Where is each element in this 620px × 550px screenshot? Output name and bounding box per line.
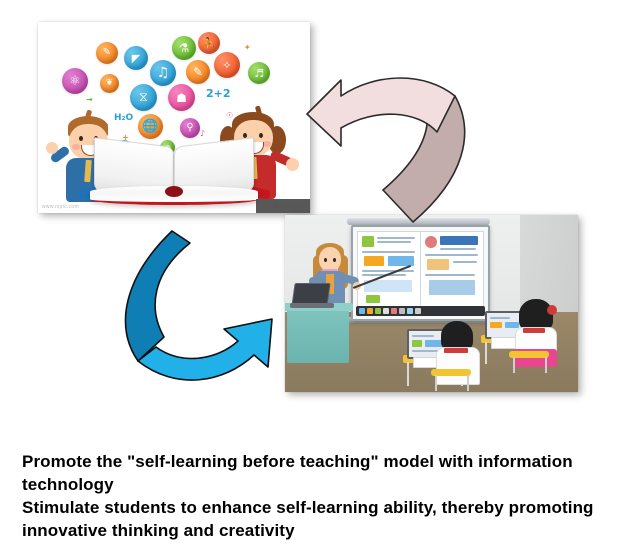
taskbar-icon bbox=[415, 308, 421, 314]
watermark-block bbox=[256, 199, 310, 213]
student-girl-collar bbox=[523, 328, 545, 333]
boy-cheek-left bbox=[72, 144, 80, 150]
microscope-icon: ⚲ bbox=[180, 118, 200, 138]
slide-graphic bbox=[362, 236, 374, 247]
slide-graphic bbox=[366, 295, 380, 303]
slide-page-right bbox=[420, 231, 484, 307]
girl-hand bbox=[286, 158, 299, 171]
taskbar-icon bbox=[399, 308, 405, 314]
arrow-classroom-to-kids bbox=[305, 70, 490, 235]
boy-hand bbox=[46, 142, 58, 154]
student-chair-leg bbox=[467, 375, 469, 391]
student-boy-collar bbox=[444, 348, 468, 353]
student-desk-leg bbox=[407, 362, 409, 386]
teacher-laptop-base bbox=[290, 303, 334, 308]
girl-cheek-right bbox=[263, 141, 271, 147]
dna-icon: ⧖ bbox=[130, 84, 157, 111]
taskbar-icon bbox=[375, 308, 381, 314]
pencil-note-icon: ✎ bbox=[186, 60, 210, 84]
kids-illustration-canvas: ✎ ⚛ ◤ ❦ ♫ ⚗ ⛹ ✎ ✧ ♬ ⧖ ☗ 🌐 ⚲ ☀ ◉ 2+2 H₂O … bbox=[38, 22, 310, 213]
classroom-scene bbox=[285, 215, 578, 392]
flask-icon: ⚗ bbox=[172, 36, 196, 60]
slide-text-line bbox=[362, 270, 414, 272]
arrow-tail-body bbox=[125, 231, 190, 361]
student-desk-leg bbox=[485, 342, 487, 364]
telescope-icon: ✧ bbox=[214, 52, 240, 78]
teacher-eye-left bbox=[324, 258, 327, 262]
caption-block: Promote the "self-learning before teachi… bbox=[22, 450, 602, 542]
caption-paragraph-2: Stimulate students to enhance self-learn… bbox=[22, 496, 602, 542]
teacher-desk bbox=[287, 307, 349, 363]
book-spine bbox=[165, 186, 183, 197]
atom-icon: ⚛ bbox=[62, 68, 88, 94]
slide-text-line bbox=[377, 237, 415, 239]
star-symbol: ✦ bbox=[244, 44, 251, 52]
taskbar-icon bbox=[407, 308, 413, 314]
taskbar-icon bbox=[391, 308, 397, 314]
kids-illustration-image[interactable]: ✎ ⚛ ◤ ❦ ♫ ⚗ ⛹ ✎ ✧ ♬ ⧖ ☗ 🌐 ⚲ ☀ ◉ 2+2 H₂O … bbox=[38, 22, 310, 213]
taskbar-icon bbox=[383, 308, 389, 314]
palette-icon: ✎ bbox=[96, 42, 118, 64]
student-girl-hair-clip bbox=[547, 305, 557, 315]
projection-screen bbox=[351, 225, 490, 321]
slide-graphic bbox=[364, 256, 384, 266]
slide-graphic bbox=[425, 236, 437, 248]
girl-hair-tuft bbox=[255, 105, 262, 115]
monitor-text-line bbox=[490, 317, 510, 319]
drafting-icon: ◤ bbox=[124, 46, 148, 70]
student-chair-leg bbox=[545, 357, 547, 373]
globe-icon: 🌐 bbox=[138, 114, 163, 139]
slide-text-line bbox=[453, 261, 477, 263]
watermark-left: www.nipic.com bbox=[42, 204, 79, 210]
bird-icon: ❦ bbox=[100, 74, 119, 93]
open-book bbox=[94, 142, 254, 208]
monitor-graphic bbox=[412, 340, 422, 347]
runner-icon: ⛹ bbox=[198, 32, 220, 54]
math-label: 2+2 bbox=[206, 88, 231, 99]
teacher-eye-right bbox=[333, 258, 336, 262]
student-chair-leg bbox=[513, 357, 515, 373]
slide-graphic bbox=[440, 236, 478, 245]
slide-text-line bbox=[425, 274, 475, 276]
monitor-text-line bbox=[412, 335, 434, 337]
girl-eye-right bbox=[259, 133, 263, 138]
taskbar-icon bbox=[359, 308, 365, 314]
caption-paragraph-1: Promote the "self-learning before teachi… bbox=[22, 450, 602, 496]
slide-graphic bbox=[429, 280, 475, 295]
slide-text-line bbox=[362, 251, 415, 253]
slide-text-line bbox=[440, 248, 476, 250]
taskbar-icon bbox=[367, 308, 373, 314]
student-chair-leg bbox=[435, 375, 437, 391]
slide-canvas: ✎ ⚛ ◤ ❦ ♫ ⚗ ⛹ ✎ ✧ ♬ ⧖ ☗ 🌐 ⚲ ☀ ◉ 2+2 H₂O … bbox=[0, 0, 620, 550]
trumpet-icon: ♬ bbox=[248, 62, 270, 84]
screen-taskbar bbox=[356, 306, 485, 316]
arrow-symbol: → bbox=[86, 96, 93, 104]
gift-box-icon: ☗ bbox=[168, 84, 195, 111]
slide-graphic bbox=[427, 259, 449, 270]
slide-text-line bbox=[425, 254, 478, 256]
student-boy bbox=[435, 321, 481, 387]
slide-page-left bbox=[357, 231, 421, 307]
arrow-kids-to-classroom bbox=[112, 215, 292, 385]
classroom-illustration-image[interactable] bbox=[285, 215, 578, 392]
student-chair-girl bbox=[509, 351, 549, 358]
note-symbol: ♪ bbox=[200, 130, 205, 138]
boy-eye-left bbox=[79, 136, 83, 141]
slide-text-line bbox=[377, 241, 411, 243]
student-chair-boy bbox=[431, 369, 471, 376]
student-girl bbox=[513, 299, 559, 369]
music-note-icon: ♫ bbox=[150, 60, 176, 86]
monitor-graphic bbox=[490, 322, 502, 328]
